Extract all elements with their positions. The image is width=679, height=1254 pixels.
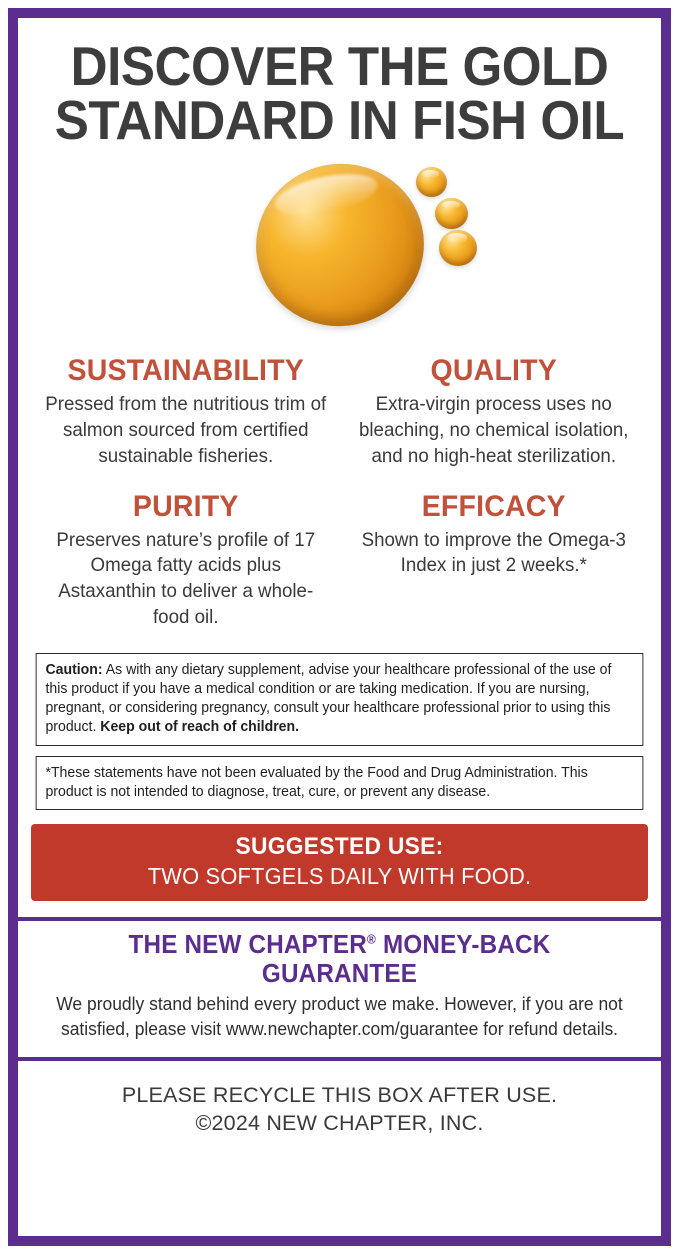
benefit-quality: QUALITY Extra-virgin process uses no ble…: [340, 354, 648, 470]
headline-line-1: DISCOVER THE GOLD: [71, 35, 609, 97]
package-panel: DISCOVER THE GOLD STANDARD IN FISH OIL S…: [8, 8, 671, 1246]
oil-droplet-small-1-icon: [416, 167, 447, 197]
guarantee-title-before: THE NEW CHAPTER: [129, 931, 367, 959]
caution-box: Caution: As with any dietary supplement,…: [36, 653, 644, 745]
benefit-purity: PURITY Preserves nature’s profile of 17 …: [32, 490, 340, 632]
suggested-use-detail: TWO SOFTGELS DAILY WITH FOOD.: [52, 863, 627, 890]
recycle-notice: PLEASE RECYCLE THIS BOX AFTER USE.: [18, 1081, 661, 1110]
oil-droplet-icon: [241, 148, 439, 341]
benefit-sustainability: SUSTAINABILITY Pressed from the nutritio…: [32, 354, 340, 470]
benefits-row-2: PURITY Preserves nature’s profile of 17 …: [32, 490, 647, 632]
guarantee-title: THE NEW CHAPTER® MONEY-BACK GUARANTEE: [49, 931, 629, 989]
suggested-use-banner: SUGGESTED USE: TWO SOFTGELS DAILY WITH F…: [31, 824, 648, 901]
page-title: DISCOVER THE GOLD STANDARD IN FISH OIL: [41, 40, 639, 148]
registered-trademark-icon: ®: [367, 932, 376, 947]
benefits-row-1: SUSTAINABILITY Pressed from the nutritio…: [32, 354, 647, 470]
benefit-title: SUSTAINABILITY: [45, 354, 326, 388]
caution-label: Caution:: [45, 662, 102, 678]
footer-section: PLEASE RECYCLE THIS BOX AFTER USE. ©2024…: [18, 1061, 661, 1139]
oil-droplet-small-3-icon: [439, 230, 477, 266]
benefits-section: SUSTAINABILITY Pressed from the nutritio…: [18, 354, 661, 631]
benefit-body: Extra-virgin process uses no bleaching, …: [351, 392, 635, 470]
benefit-body: Shown to improve the Omega-3 Index in ju…: [351, 528, 635, 580]
benefit-title: EFFICACY: [353, 490, 634, 524]
benefit-efficacy: EFFICACY Shown to improve the Omega-3 In…: [340, 490, 648, 632]
benefit-title: PURITY: [45, 490, 326, 524]
copyright-notice: ©2024 NEW CHAPTER, INC.: [18, 1109, 661, 1138]
guarantee-body: We proudly stand behind every product we…: [43, 992, 636, 1040]
guarantee-section: THE NEW CHAPTER® MONEY-BACK GUARANTEE We…: [18, 921, 661, 1040]
fine-print-section: Caution: As with any dietary supplement,…: [18, 653, 661, 810]
headline-line-2: STANDARD IN FISH OIL: [48, 94, 631, 148]
benefit-body: Preserves nature’s profile of 17 Omega f…: [44, 528, 328, 632]
oil-droplet-illustration: [18, 154, 661, 354]
disclaimer-line-1: *These statements have not been evaluate…: [45, 765, 557, 781]
caution-bold-tail: Keep out of reach of children.: [100, 719, 299, 735]
suggested-use-heading: SUGGESTED USE:: [52, 833, 627, 861]
benefit-body: Pressed from the nutritious trim of salm…: [44, 392, 328, 470]
benefit-title: QUALITY: [353, 354, 634, 388]
fda-disclaimer-box: *These statements have not been evaluate…: [36, 756, 644, 811]
oil-droplet-small-2-icon: [435, 198, 468, 229]
